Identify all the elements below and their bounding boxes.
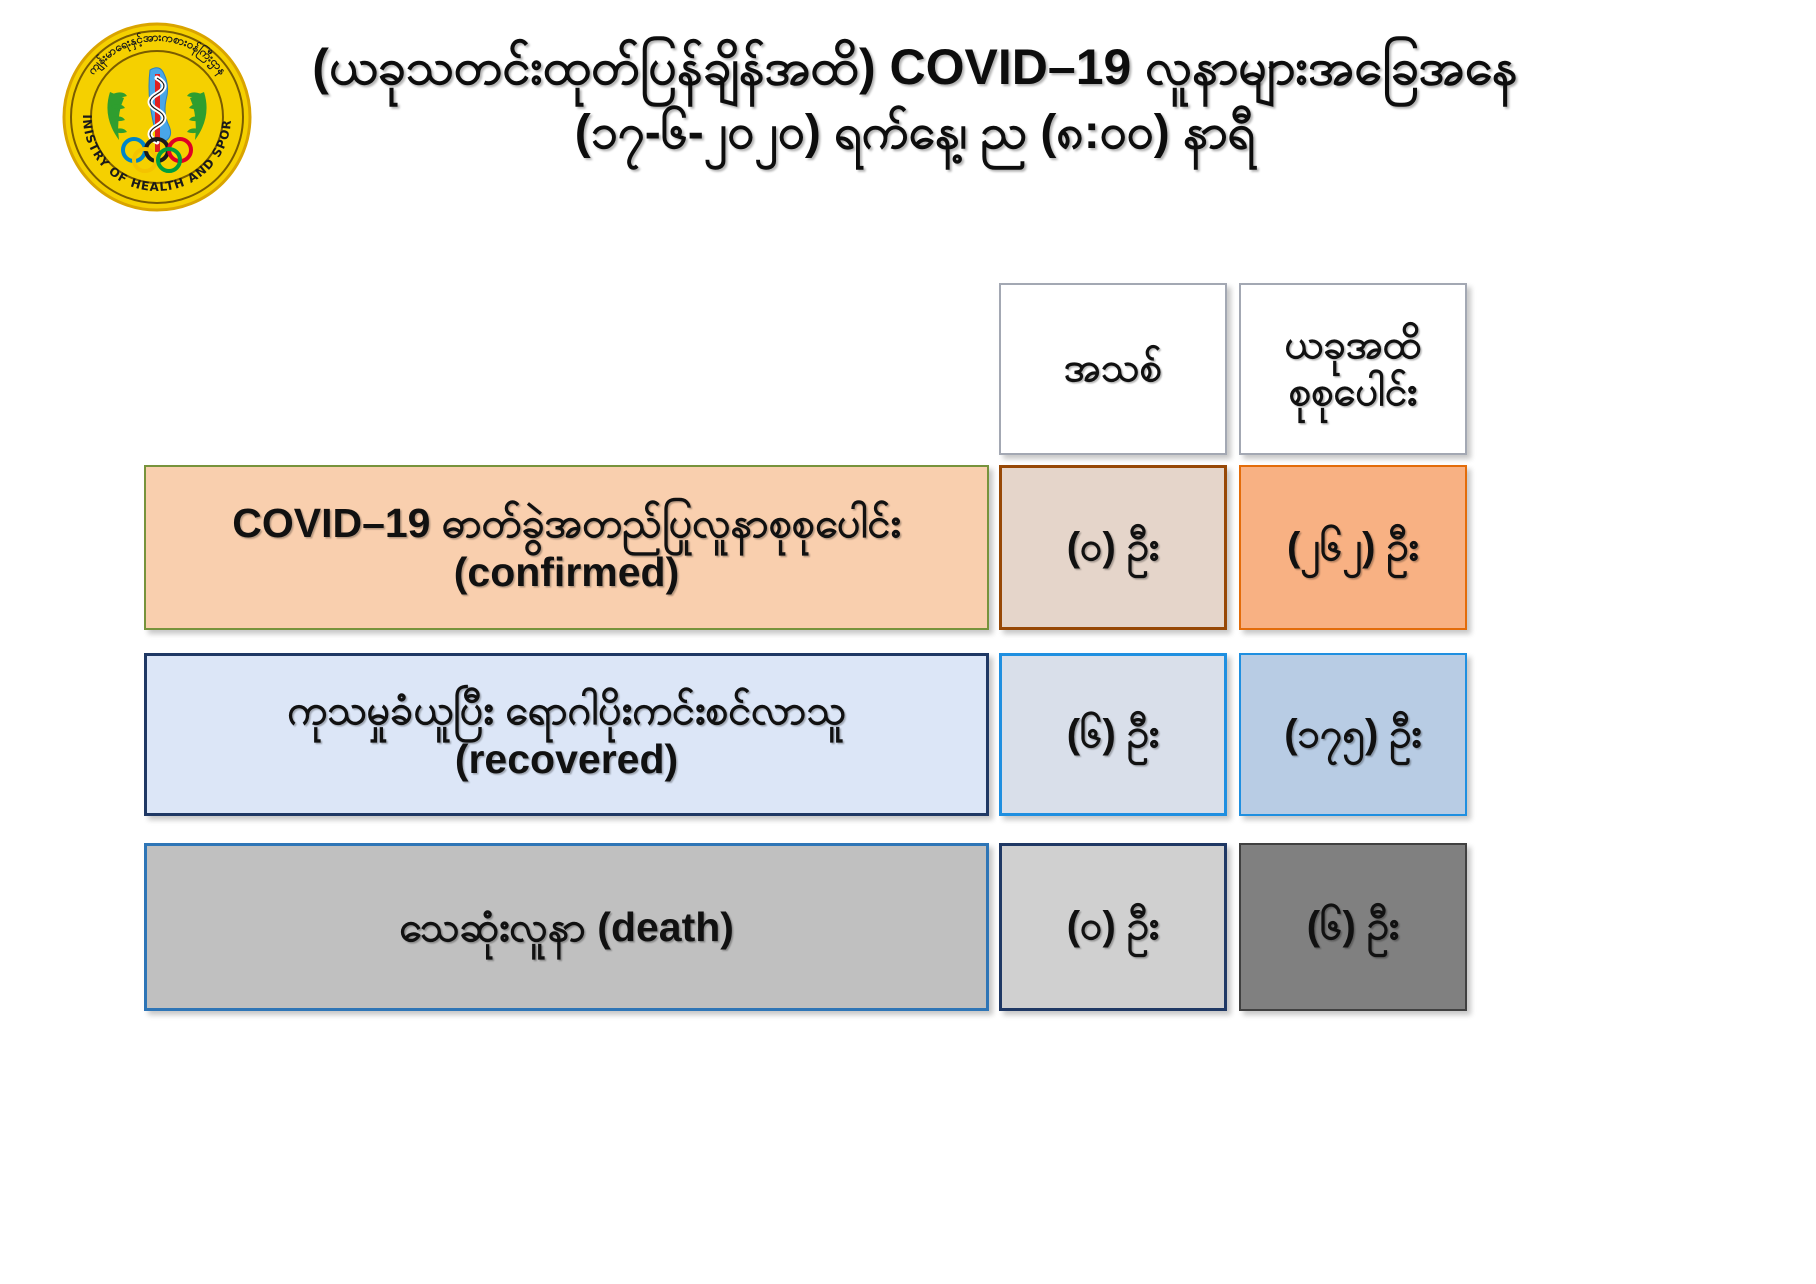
column-header-total: ယခုအထိစုစုပေါင်း [1239, 283, 1467, 455]
row-recovered-label-en: (recovered) [455, 736, 678, 782]
row-confirmed-label-en: (confirmed) [454, 549, 680, 595]
column-header-new: အသစ် [999, 283, 1227, 455]
row-confirmed-label-text: COVID–19 ဓာတ်ခွဲအတည်ပြုလူနာစုစုပေါင်း (c… [222, 499, 911, 596]
row-recovered-label-my: ကုသမှုခံယူပြီး ရောဂါပိုးကင်းစင်လာသူ [287, 687, 846, 733]
column-header-new-label: အသစ် [1054, 345, 1172, 392]
confirmed-total-count: (၂၆၂) ဦး [1277, 524, 1429, 571]
table-row-confirmed-total-value: (၂၆၂) ဦး [1239, 465, 1467, 630]
row-recovered-label-text: ကုသမှုခံယူပြီး ရောဂါပိုးကင်းစင်လာသူ (rec… [277, 686, 856, 783]
page-header: ကျန်းမာရေးနှင့်အားကစားဝန်ကြီးဌာန MINISTR… [0, 0, 1816, 265]
page-title: (ယခုသတင်းထုတ်ပြန်ချိန်အထိ) COVID–19 လူနာ… [250, 34, 1580, 165]
ministry-seal-logo: ကျန်းမာရေးနှင့်အားကစားဝန်ကြီးဌာန MINISTR… [62, 22, 252, 212]
table-row-confirmed-label: COVID–19 ဓာတ်ခွဲအတည်ပြုလူနာစုစုပေါင်း (c… [144, 465, 989, 630]
table-row-death-label: သေဆုံးလူနာ (death) [144, 843, 989, 1011]
table-row-recovered-new-value: (၆) ဦး [999, 653, 1227, 816]
row-death-label-my: သေဆုံးလူနာ (death) [399, 904, 734, 950]
covid-status-table: အသစ် ယခုအထိစုစုပေါင်း COVID–19 ဓာတ်ခွဲအတ… [0, 265, 1816, 1265]
confirmed-new-count: (၀) ဦး [1057, 524, 1170, 571]
table-row-recovered-label: ကုသမှုခံယူပြီး ရောဂါပိုးကင်းစင်လာသူ (rec… [144, 653, 989, 816]
column-header-total-label: ယခုအထိစုစုပေါင်း [1275, 322, 1432, 416]
row-confirmed-label-my: COVID–19 ဓာတ်ခွဲအတည်ပြုလူနာစုစုပေါင်း [232, 500, 901, 546]
death-total-count: (၆) ဦး [1297, 903, 1410, 950]
table-row-death-new-value: (၀) ဦး [999, 843, 1227, 1011]
table-row-recovered-total-value: (၁၇၅) ဦး [1239, 653, 1467, 816]
recovered-new-count: (၆) ဦး [1057, 711, 1170, 758]
table-row-confirmed-new-value: (၀) ဦး [999, 465, 1227, 630]
table-row-death-total-value: (၆) ဦး [1239, 843, 1467, 1011]
row-death-label-text: သေဆုံးလူနာ (death) [389, 903, 744, 951]
title-line-2: (၁၇-၆-၂၀၂၀) ရက်နေ့၊ ည (၈:၀၀) နာရီ [250, 101, 1580, 165]
recovered-total-count: (၁၇၅) ဦး [1274, 711, 1432, 758]
title-line-1: (ယခုသတင်းထုတ်ပြန်ချိန်အထိ) COVID–19 လူနာ… [250, 34, 1580, 101]
death-new-count: (၀) ဦး [1057, 903, 1170, 950]
